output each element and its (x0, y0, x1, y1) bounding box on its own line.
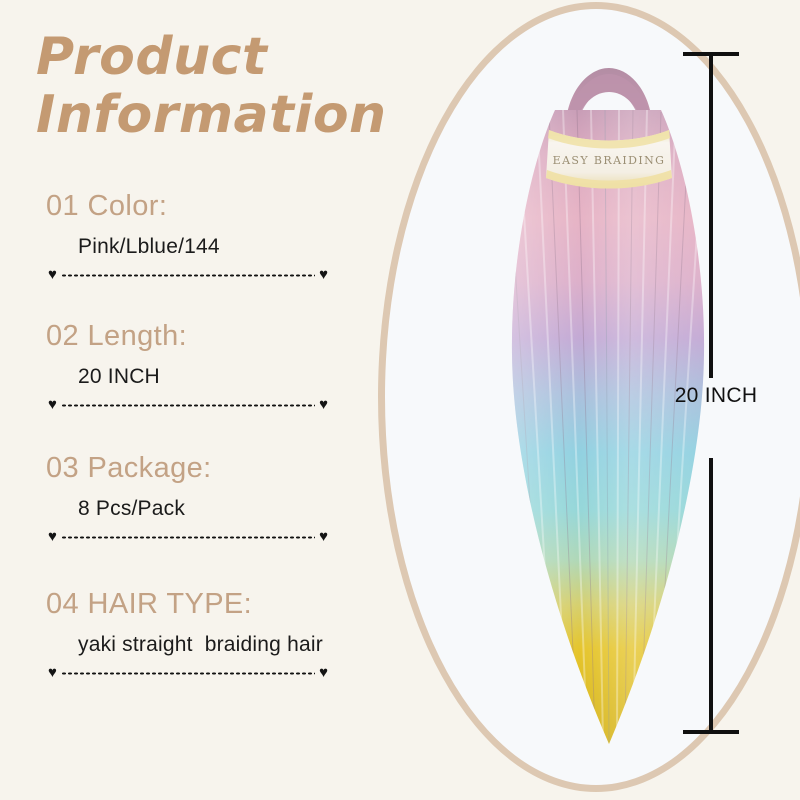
dotted-line (61, 404, 315, 407)
ruler-line-upper (709, 56, 713, 378)
measurement-ruler: 20 INCH (646, 46, 776, 742)
page-title: Product Information (36, 28, 406, 144)
spec-label-color: 01 Color: (46, 190, 400, 223)
heart-icon-right: ♥ (319, 529, 328, 544)
heart-icon-left: ♥ (48, 267, 57, 282)
spec-item-hair-type: 04 HAIR TYPE: yaki straight braiding hai… (0, 588, 400, 681)
ruler-label: 20 INCH (657, 384, 775, 408)
dotted-line (61, 672, 315, 675)
spec-value-color: Pink/Lblue/144 (78, 235, 400, 259)
divider-length: ♥ ♥ (48, 397, 328, 413)
spec-item-color: 01 Color: Pink/Lblue/144 ♥ ♥ (0, 190, 400, 283)
spec-label-hair-type: 04 HAIR TYPE: (46, 588, 400, 621)
divider-package: ♥ ♥ (48, 529, 328, 545)
ruler-cap-bottom (683, 730, 739, 734)
spec-value-hair-type: yaki straight braiding hair (78, 633, 400, 657)
ruler-line-lower (709, 458, 713, 730)
heart-icon-right: ♥ (319, 665, 328, 680)
spec-label-length: 02 Length: (46, 320, 400, 353)
spec-label-package: 03 Package: (46, 452, 400, 485)
heart-icon-left: ♥ (48, 665, 57, 680)
heart-icon-left: ♥ (48, 529, 57, 544)
spec-item-package: 03 Package: 8 Pcs/Pack ♥ ♥ (0, 452, 400, 545)
infographic-canvas: Product Information 01 Color: Pink/Lblue… (0, 0, 800, 800)
heart-icon-right: ♥ (319, 267, 328, 282)
dotted-line (61, 536, 315, 539)
dotted-line (61, 274, 315, 277)
heart-icon-left: ♥ (48, 397, 57, 412)
divider-hair-type: ♥ ♥ (48, 665, 328, 681)
divider-color: ♥ ♥ (48, 267, 328, 283)
heart-icon-right: ♥ (319, 397, 328, 412)
spec-value-length: 20 INCH (78, 365, 400, 389)
spec-item-length: 02 Length: 20 INCH ♥ ♥ (0, 320, 400, 413)
spec-value-package: 8 Pcs/Pack (78, 497, 400, 521)
